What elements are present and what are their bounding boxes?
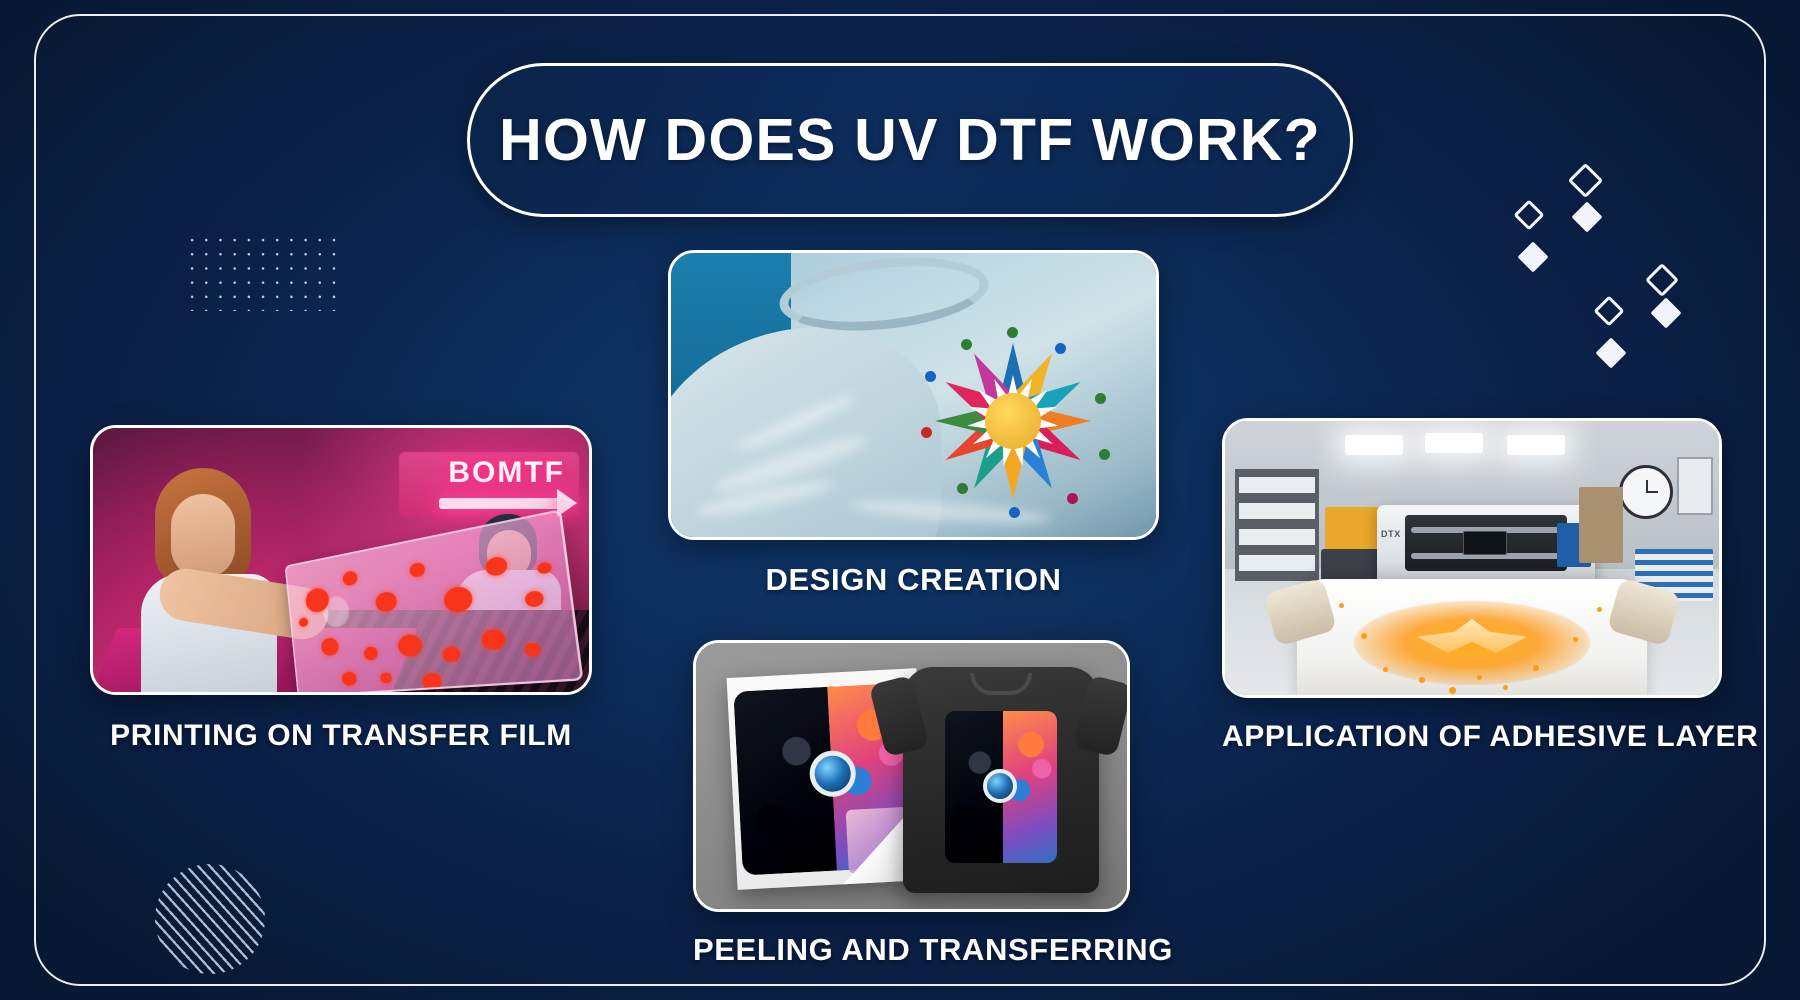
step-application-of-adhesive-layer: DTX	[1222, 418, 1722, 754]
transferred-artwork	[945, 711, 1057, 863]
step-design-creation: DESIGN CREATION	[668, 250, 1159, 598]
printer-display[interactable]	[1463, 531, 1507, 555]
photo-printing-on-transfer-film: BOMTF	[90, 425, 592, 695]
ceiling-light-icon	[1345, 435, 1403, 455]
photo-application-of-adhesive-layer: DTX	[1222, 418, 1722, 698]
scene-print-workshop: DTX	[1225, 421, 1719, 695]
diamond-icon	[1518, 204, 1540, 226]
neon-arrow-icon	[439, 498, 563, 509]
wall-poster	[1677, 457, 1713, 515]
step-peeling-and-transferring: PEELING AND TRANSFERRING	[693, 640, 1130, 968]
ceiling-light-icon	[1507, 435, 1565, 455]
caption-design-creation: DESIGN CREATION	[668, 562, 1159, 598]
tshirt-collar	[970, 673, 1032, 695]
page-title: HOW DOES UV DTF WORK?	[499, 106, 1321, 174]
wall-clock-icon	[1619, 465, 1673, 519]
diamond-icon	[1600, 342, 1622, 364]
storage-shelf	[1235, 469, 1319, 581]
neon-sign-text: BOMTF	[448, 456, 565, 490]
adhesive-powder-layer	[1354, 601, 1590, 685]
diamond-icon	[1598, 300, 1620, 322]
door-panel	[1579, 487, 1623, 563]
diamond-icon	[1650, 268, 1674, 292]
printer-brand-label: DTX	[1381, 529, 1401, 539]
scene-print-studio: BOMTF	[93, 428, 589, 692]
printer-window	[1405, 515, 1567, 571]
title-banner: HOW DOES UV DTF WORK?	[467, 63, 1353, 217]
diamond-icon	[1655, 302, 1677, 324]
scene-peel-transfer	[696, 643, 1127, 909]
diamond-icon	[1522, 246, 1544, 268]
scene-printed-tshirt	[671, 253, 1156, 537]
step-printing-on-transfer-film: BOMTF	[90, 425, 592, 753]
ceiling-light-icon	[1425, 433, 1483, 453]
black-tshirt	[903, 667, 1099, 893]
caption-peeling-and-transferring: PEELING AND TRANSFERRING	[693, 932, 1130, 968]
diamond-icon	[1573, 168, 1598, 193]
caption-application-of-adhesive-layer: APPLICATION OF ADHESIVE LAYER	[1222, 720, 1722, 754]
mandala-design-icon	[923, 331, 1103, 511]
infographic-canvas: HOW DOES UV DTF WORK? BOMTF	[0, 0, 1800, 1000]
white-tshirt	[1297, 579, 1647, 698]
mandala-core	[985, 393, 1041, 449]
photo-peeling-and-transferring	[693, 640, 1130, 912]
photo-design-creation	[668, 250, 1159, 540]
diamond-icon	[1576, 206, 1598, 228]
caption-printing-on-transfer-film: PRINTING ON TRANSFER FILM	[90, 719, 592, 753]
